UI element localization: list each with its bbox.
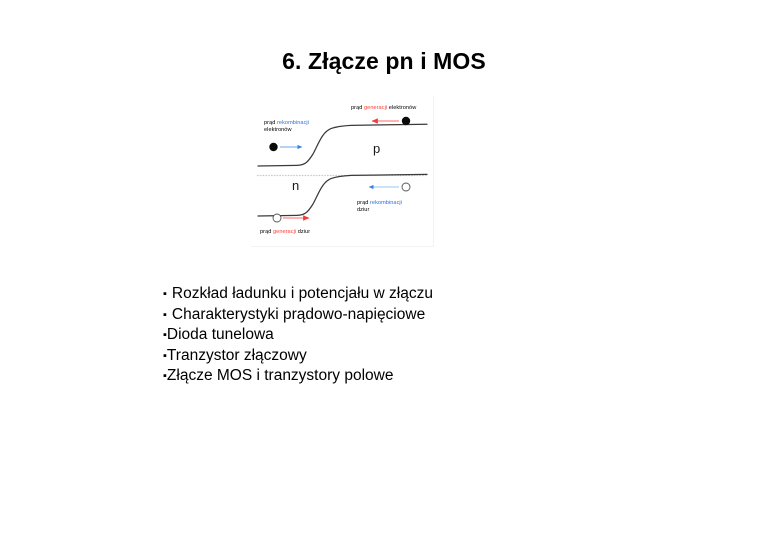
label-generation-electrons-hl: generacji (364, 105, 387, 111)
label-generation-electrons-pre: prąd (351, 105, 364, 111)
label-recombination-electrons-hl: rekombinacji (277, 120, 309, 126)
bullet-list: ▪Rozkład ładunku i potencjału w złączu ▪… (163, 284, 683, 387)
list-item: ▪Złącze MOS i tranzystory polowe (163, 366, 683, 387)
list-item: ▪Rozkład ładunku i potencjału w złączu (163, 284, 683, 305)
label-recombination-electrons: prąd rekombinacji elektronów (264, 120, 309, 133)
label-generation-electrons: prąd generacji elektronów (351, 105, 416, 112)
list-item-label: Złącze MOS i tranzystory polowe (167, 367, 394, 384)
list-item-label: Rozkład ładunku i potencjału w złączu (172, 285, 433, 302)
label-generation-holes-post: dziur (296, 229, 310, 235)
pn-junction-band-diagram: p n prąd generacji elektronów prąd rekom… (251, 96, 434, 247)
bullet-marker: ▪ (163, 285, 167, 305)
electron-generation-marker (372, 117, 410, 125)
list-item: ▪Charakterystyki prądowo-napięciowe (163, 305, 683, 326)
label-recombination-electrons-pre: prąd (264, 120, 277, 126)
hole-recombination-marker (369, 183, 410, 191)
bullet-marker: ▪ (163, 306, 167, 326)
region-label-p: p (373, 141, 380, 156)
label-generation-holes-pre: prąd (260, 229, 273, 235)
label-recombination-holes: prąd rekombinacji dziur (357, 200, 402, 213)
label-generation-holes: prąd generacji dziur (260, 229, 310, 236)
list-item-label: Dioda tunelowa (167, 326, 274, 343)
label-recombination-holes-pre: prąd (357, 200, 370, 206)
list-item-label: Tranzystor złączowy (167, 347, 307, 364)
label-generation-electrons-post: elektronów (387, 105, 416, 111)
label-recombination-electrons-line2: elektronów (264, 127, 292, 133)
label-recombination-holes-line2: dziur (357, 207, 369, 213)
list-item-label: Charakterystyki prądowo-napięciowe (172, 306, 425, 323)
list-item: ▪Tranzystor złączowy (163, 346, 683, 367)
label-recombination-holes-hl: rekombinacji (370, 200, 402, 206)
band-diagram-canvas (251, 96, 433, 246)
electron-recombination-marker (269, 143, 302, 151)
region-label-n: n (292, 178, 299, 193)
page-title: 6. Złącze pn i MOS (0, 48, 768, 75)
list-item: ▪Dioda tunelowa (163, 325, 683, 346)
label-generation-holes-hl: generacji (273, 229, 296, 235)
